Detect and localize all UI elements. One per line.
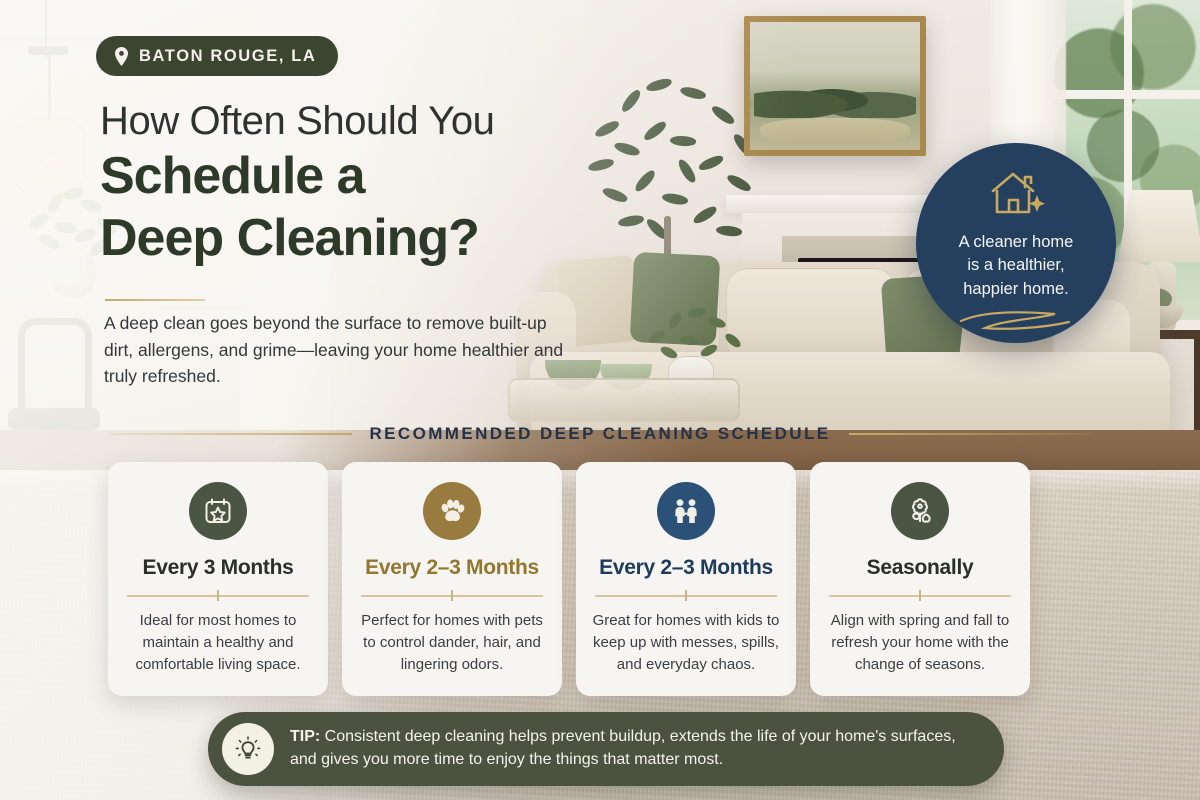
- card-separator: [595, 590, 777, 600]
- headline-line-3: Deep Cleaning?: [100, 209, 620, 267]
- lightbulb-icon: [222, 723, 274, 775]
- children-icon: [657, 482, 715, 540]
- headline-line-1: How Often Should You: [100, 100, 620, 143]
- squiggle-flourish-icon: [957, 309, 1075, 336]
- house-sparkle-icon: [985, 167, 1047, 219]
- card-body: Align with spring and fall to refresh yo…: [824, 610, 1016, 677]
- location-badge[interactable]: BATON ROUGE, LA: [96, 36, 338, 76]
- seal-line-2: is a healthier,: [959, 254, 1074, 277]
- schedule-card[interactable]: Every 2–3 Months Perfect for homes with …: [342, 462, 562, 696]
- card-body: Ideal for most homes to maintain a healt…: [122, 610, 314, 677]
- tip-body: Consistent deep cleaning helps prevent b…: [290, 728, 956, 768]
- card-title: Every 2–3 Months: [365, 556, 539, 580]
- tagline-seal: A cleaner home is a healthier, happier h…: [916, 143, 1116, 343]
- tip-bar: TIP: Consistent deep cleaning helps prev…: [208, 712, 1004, 786]
- infographic-stage: BATON ROUGE, LA How Often Should You Sch…: [0, 0, 1200, 800]
- card-title: Seasonally: [867, 556, 974, 580]
- divider-rule-left: [110, 433, 352, 435]
- headline-line-2: Schedule a: [100, 147, 620, 205]
- seal-line-3: happier home.: [959, 278, 1074, 301]
- section-divider: RECOMMENDED DEEP CLEANING SCHEDULE: [110, 424, 1090, 444]
- calendar-star-icon: [189, 482, 247, 540]
- infographic-content: BATON ROUGE, LA How Often Should You Sch…: [0, 0, 1200, 800]
- tip-text: TIP: Consistent deep cleaning helps prev…: [290, 726, 978, 771]
- schedule-cards: Every 3 Months Ideal for most homes to m…: [108, 462, 1092, 696]
- lede-rule: [105, 299, 205, 301]
- paw-icon: [423, 482, 481, 540]
- card-body: Perfect for homes with pets to control d…: [356, 610, 548, 677]
- divider-rule-right: [849, 433, 1091, 435]
- seal-line-1: A cleaner home: [959, 231, 1074, 254]
- card-body: Great for homes with kids to keep up wit…: [590, 610, 782, 677]
- card-separator: [127, 590, 309, 600]
- tip-label: TIP:: [290, 728, 320, 745]
- card-title: Every 2–3 Months: [599, 556, 773, 580]
- card-title: Every 3 Months: [142, 556, 293, 580]
- divider-label: RECOMMENDED DEEP CLEANING SCHEDULE: [370, 424, 831, 444]
- flowers-icon: [891, 482, 949, 540]
- map-pin-icon: [114, 47, 129, 66]
- card-separator: [361, 590, 543, 600]
- schedule-card[interactable]: Every 3 Months Ideal for most homes to m…: [108, 462, 328, 696]
- card-separator: [829, 590, 1011, 600]
- page-title: How Often Should You Schedule a Deep Cle…: [100, 100, 620, 268]
- location-badge-label: BATON ROUGE, LA: [139, 47, 316, 66]
- lede-paragraph: A deep clean goes beyond the surface to …: [104, 310, 564, 390]
- schedule-card[interactable]: Every 2–3 Months Great for homes with ki…: [576, 462, 796, 696]
- seal-text: A cleaner home is a healthier, happier h…: [959, 231, 1074, 301]
- schedule-card[interactable]: Seasonally Align with spring and fall to…: [810, 462, 1030, 696]
